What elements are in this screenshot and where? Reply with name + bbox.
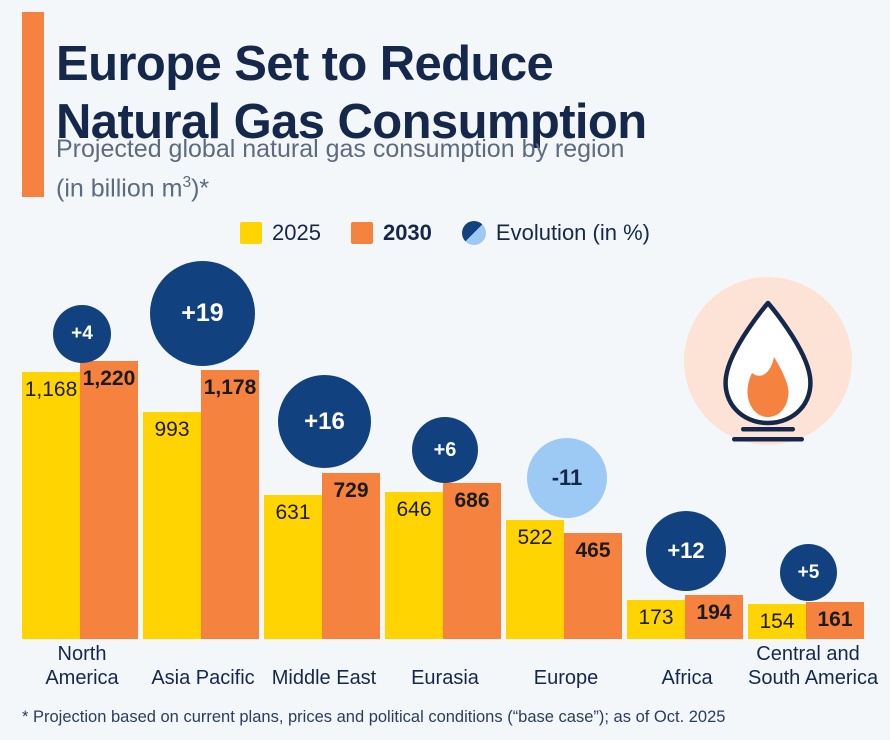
evolution-value-eurasia: +6 [434, 439, 457, 462]
category-label-line-1: North [22, 642, 142, 666]
bar-value-2030-north-america: 1,220 [80, 367, 138, 391]
category-label-line-1: Central and [748, 642, 868, 666]
page-subtitle-line-1: Projected global natural gas consumption… [56, 132, 846, 166]
evolution-bubble-north-america[interactable]: +4 [53, 305, 111, 363]
category-label-north-america: North America [22, 642, 142, 690]
bar-2030-asia-pacific[interactable]: 1,178 [201, 370, 259, 639]
bars-row-eurasia: 646 686 [385, 483, 501, 639]
bars-row-middle-east: 631 729 [264, 473, 380, 639]
bar-2025-north-america[interactable]: 1,168 [22, 372, 80, 639]
bars-row-europe: 522 465 [506, 520, 622, 639]
evolution-bubble-eurasia[interactable]: +6 [412, 417, 478, 483]
page-title-line-1: Europe Set to Reduce [56, 35, 856, 93]
page-subtitle: Projected global natural gas consumption… [56, 132, 846, 205]
bar-2030-middle-east[interactable]: 729 [322, 473, 380, 639]
bar-2030-europe[interactable]: 465 [564, 533, 622, 639]
legend-item-evolution[interactable]: Evolution (in %) [462, 220, 650, 246]
bar-value-2030-asia-pacific: 1,178 [201, 376, 259, 400]
subtitle-units-pre: (in billion m [56, 174, 182, 202]
bar-value-2025-eurasia: 646 [385, 498, 443, 522]
bar-2030-africa[interactable]: 194 [685, 595, 743, 639]
bar-2030-eurasia[interactable]: 686 [443, 483, 501, 639]
evolution-value-central-and-south-america: +5 [798, 562, 820, 584]
category-label-line-2: America [22, 666, 142, 690]
bar-value-2025-north-america: 1,168 [22, 378, 80, 402]
evolution-value-asia-pacific: +19 [181, 299, 223, 328]
legend-label-2030: 2030 [383, 220, 432, 246]
category-label-line-1: Middle East [264, 666, 384, 690]
category-label-line-1: Europe [506, 666, 626, 690]
bar-value-2030-africa: 194 [685, 601, 743, 625]
category-label-eurasia: Eurasia [385, 666, 505, 690]
bar-value-2030-eurasia: 686 [443, 489, 501, 513]
bar-2025-central-and-south-america[interactable]: 154 [748, 604, 806, 639]
category-label-line-1: Africa [627, 666, 747, 690]
category-label-line-2: South America [748, 666, 868, 690]
legend-swatch-2030-icon [351, 222, 373, 244]
legend-swatch-2025-icon [240, 222, 262, 244]
bars-row-africa: 173 194 [627, 595, 743, 639]
chart-legend: 2025 2030 Evolution (in %) [0, 220, 890, 246]
category-label-central-and-south-america: Central and South America [748, 642, 868, 690]
bar-2025-asia-pacific[interactable]: 993 [143, 412, 201, 639]
bars-row-central-and-south-america: 154 161 [748, 602, 864, 639]
evolution-bubble-africa[interactable]: +12 [646, 511, 726, 591]
bar-group-middle-east: 631 729 Middle East [264, 250, 384, 690]
evolution-bubble-central-and-south-america[interactable]: +5 [780, 544, 837, 601]
evolution-bubble-middle-east[interactable]: +16 [278, 375, 371, 468]
bar-2025-europe[interactable]: 522 [506, 520, 564, 639]
category-label-line-1: Eurasia [385, 666, 505, 690]
category-label-asia-pacific: Asia Pacific [143, 666, 263, 690]
bar-chart: 1,168 1,220 North America 993 1,178 Asia… [0, 250, 890, 690]
page-subtitle-line-2: (in billion m3)* [56, 166, 846, 205]
legend-label-2025: 2025 [272, 220, 321, 246]
bar-group-central-and-south-america: 154 161 Central and South America [748, 250, 868, 690]
legend-item-2030[interactable]: 2030 [351, 220, 432, 246]
evolution-bubble-europe[interactable]: -11 [527, 438, 607, 518]
footnote: * Projection based on current plans, pri… [22, 708, 725, 727]
category-label-middle-east: Middle East [264, 666, 384, 690]
bar-value-2025-asia-pacific: 993 [143, 418, 201, 442]
evolution-value-middle-east: +16 [304, 408, 345, 436]
legend-item-2025[interactable]: 2025 [240, 220, 321, 246]
category-label-europe: Europe [506, 666, 626, 690]
bar-2030-north-america[interactable]: 1,220 [80, 361, 138, 639]
evolution-value-north-america: +4 [71, 323, 93, 345]
bars-row-asia-pacific: 993 1,178 [143, 370, 259, 639]
evolution-value-europe: -11 [552, 465, 583, 491]
header-accent-bar [22, 12, 44, 197]
evolution-value-africa: +12 [667, 538, 704, 564]
bar-value-2030-central-and-south-america: 161 [806, 608, 864, 632]
bar-group-africa: 173 194 Africa [627, 250, 747, 690]
legend-label-evolution: Evolution (in %) [496, 220, 650, 246]
bar-2025-africa[interactable]: 173 [627, 600, 685, 639]
bar-value-2025-middle-east: 631 [264, 501, 322, 525]
bar-value-2030-europe: 465 [564, 539, 622, 563]
evolution-bubble-asia-pacific[interactable]: +19 [150, 261, 255, 366]
bar-value-2025-europe: 522 [506, 526, 564, 550]
bar-value-2025-africa: 173 [627, 606, 685, 630]
bar-value-2025-central-and-south-america: 154 [748, 610, 806, 634]
subtitle-units-exponent: 3 [182, 174, 191, 191]
bar-2025-eurasia[interactable]: 646 [385, 492, 443, 639]
bar-2025-middle-east[interactable]: 631 [264, 495, 322, 639]
bar-value-2030-middle-east: 729 [322, 479, 380, 503]
legend-split-circle-icon [462, 221, 486, 245]
category-label-line-1: Asia Pacific [143, 666, 263, 690]
category-label-africa: Africa [627, 666, 747, 690]
bars-row-north-america: 1,168 1,220 [22, 361, 138, 639]
subtitle-units-post: )* [191, 174, 209, 202]
bar-2030-central-and-south-america[interactable]: 161 [806, 602, 864, 639]
